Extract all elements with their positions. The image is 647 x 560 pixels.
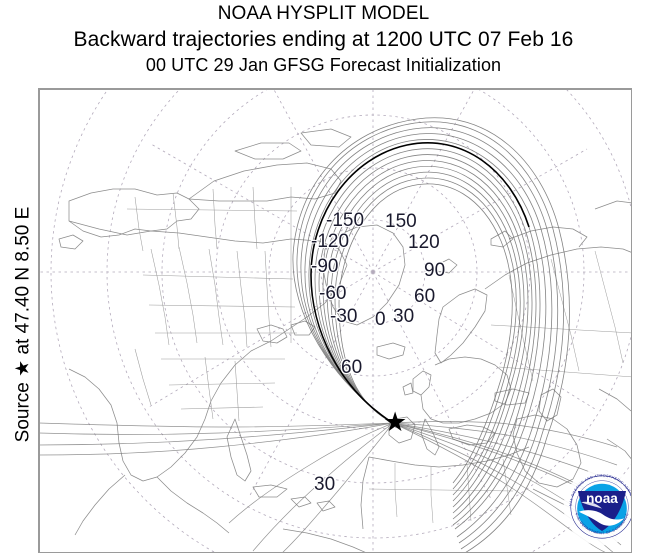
longitude-label-120: 120	[408, 232, 440, 254]
plot-title-block: NOAA HYSPLIT MODEL Backward trajectories…	[0, 2, 647, 77]
longitude-label-60: 60	[414, 286, 435, 308]
longitude-label-30: 30	[393, 306, 414, 328]
noaa-logo-graphic: noaa NATIONAL OCEANIC AND ATMOSPHERIC AD…	[562, 467, 632, 547]
longitude-label-neg30: -30	[330, 306, 357, 328]
longitude-label-0: 0	[375, 309, 386, 331]
noaa-logo: noaa NATIONAL OCEANIC AND ATMOSPHERIC AD…	[562, 467, 632, 547]
longitude-label-neg150: -150	[326, 210, 364, 232]
map-panel: -150 -120 -90 -60 -30 0 30 60 90 120 150…	[38, 88, 632, 553]
longitude-label-neg120: -120	[311, 231, 349, 253]
coastlines	[59, 129, 632, 553]
longitude-label-neg60: -60	[319, 283, 346, 305]
longitude-label-90: 90	[424, 260, 445, 282]
initialization-subtitle: 00 UTC 29 Jan GFSG Forecast Initializati…	[0, 53, 647, 77]
source-location-text: Source ★ at 47.40 N 8.50 E	[13, 207, 34, 443]
trajectory-subtitle: Backward trajectories ending at 1200 UTC…	[0, 26, 647, 53]
hysplit-plot-page: NOAA HYSPLIT MODEL Backward trajectories…	[0, 0, 647, 559]
latitude-label-60: 60	[341, 357, 362, 379]
longitude-label-150: 150	[385, 211, 417, 233]
longitude-label-neg90: -90	[311, 256, 338, 278]
source-location-label: Source ★ at 47.40 N 8.50 E	[12, 90, 35, 560]
model-title: NOAA HYSPLIT MODEL	[0, 2, 647, 26]
latitude-label-30: 30	[314, 474, 335, 496]
noaa-wordmark: noaa	[586, 491, 618, 506]
source-star-marker: ★	[383, 409, 407, 436]
